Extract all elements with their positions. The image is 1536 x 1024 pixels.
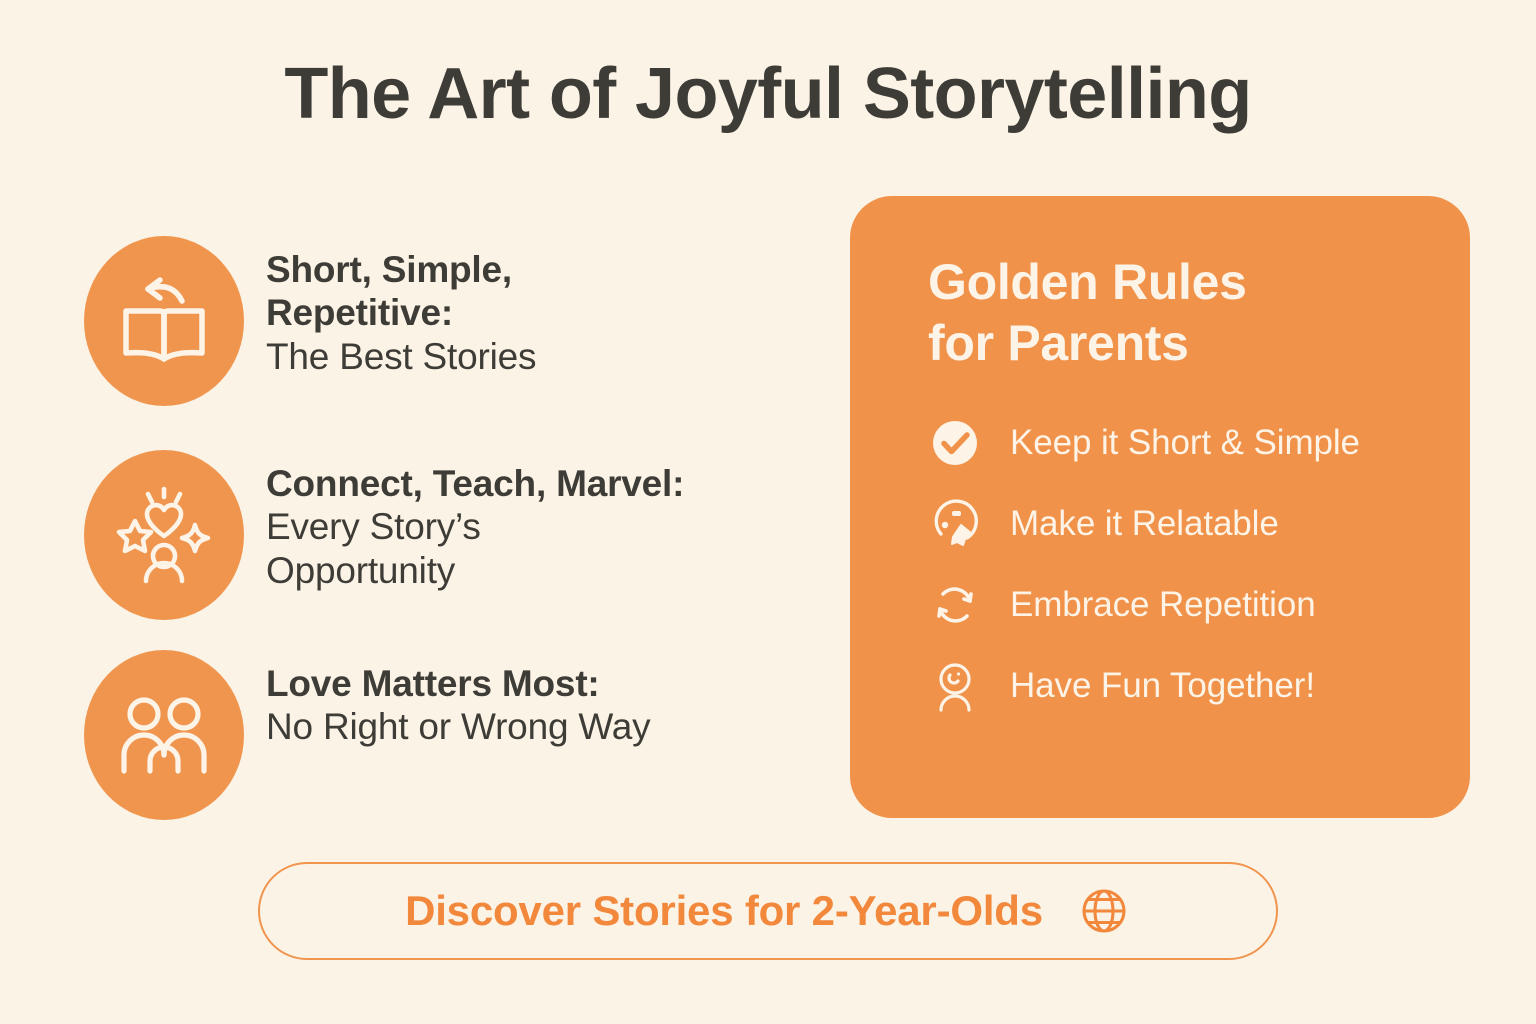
rule-item-embrace-repetition: Embrace Repetition: [928, 578, 1426, 632]
feature-text: Short, Simple, Repetitive: The Best Stor…: [266, 236, 536, 378]
palette-icon: [928, 497, 982, 551]
feature-text: Love Matters Most: No Right or Wrong Way: [266, 650, 650, 749]
discover-stories-button[interactable]: Discover Stories for 2-Year-Olds: [258, 862, 1278, 960]
rule-item-keep-it-short-simple: Keep it Short & Simple: [928, 416, 1426, 470]
rule-item-make-it-relatable: Make it Relatable: [928, 497, 1426, 551]
feature-subline: Every Story’s Opportunity: [266, 505, 684, 592]
feature-item-love-matters-most: Love Matters Most: No Right or Wrong Way: [84, 650, 844, 820]
page-title: The Art of Joyful Storytelling: [0, 58, 1536, 130]
rule-label: Make it Relatable: [1010, 505, 1279, 544]
golden-rules-card: Golden Rules for Parents Keep it Short &…: [850, 196, 1470, 818]
family-people-icon: [84, 650, 244, 820]
smiley-person-icon: [928, 659, 982, 713]
feature-headline: Connect, Teach, Marvel:: [266, 462, 684, 505]
feature-subline: The Best Stories: [266, 335, 536, 378]
rule-label: Have Fun Together!: [1010, 667, 1315, 706]
cta-label: Discover Stories for 2-Year-Olds: [405, 887, 1043, 935]
feature-list: Short, Simple, Repetitive: The Best Stor…: [84, 236, 844, 820]
rule-label: Embrace Repetition: [1010, 586, 1316, 625]
rules-card-title: Golden Rules for Parents: [928, 252, 1426, 374]
rule-item-have-fun-together: Have Fun Together!: [928, 659, 1426, 713]
feature-headline: Love Matters Most:: [266, 662, 650, 705]
globe-icon: [1077, 884, 1131, 938]
feature-headline: Short, Simple, Repetitive:: [266, 248, 536, 335]
feature-subline: No Right or Wrong Way: [266, 705, 650, 748]
check-circle-icon: [928, 416, 982, 470]
open-book-repeat-icon: [84, 236, 244, 406]
rules-list: Keep it Short & Simple Make it Relatable: [928, 416, 1426, 713]
feature-item-short-simple-repetitive: Short, Simple, Repetitive: The Best Stor…: [84, 236, 844, 406]
heart-stars-person-icon: [84, 450, 244, 620]
refresh-repeat-icon: [928, 578, 982, 632]
rule-label: Keep it Short & Simple: [1010, 424, 1360, 463]
infographic-poster: The Art of Joyful Storytelling Short, Si…: [0, 0, 1536, 1024]
feature-text: Connect, Teach, Marvel: Every Story’s Op…: [266, 450, 684, 592]
feature-item-connect-teach-marvel: Connect, Teach, Marvel: Every Story’s Op…: [84, 450, 844, 620]
